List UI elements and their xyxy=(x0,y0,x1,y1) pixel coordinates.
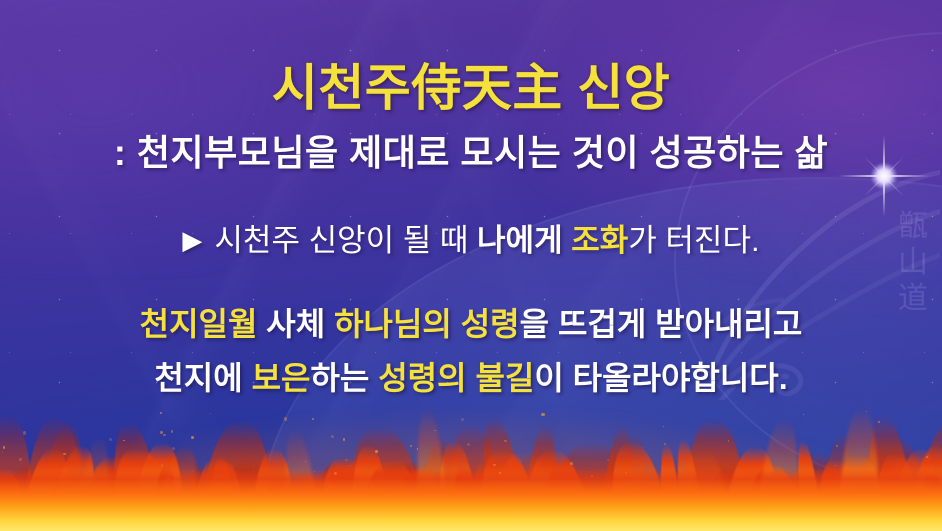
body2-segment-white-2: 하는 xyxy=(310,360,378,396)
body-statement-line-1: 천지일월 사체 하나님의 성령을 뜨겁게 받아내리고 xyxy=(0,299,942,345)
bullet-statement: ▶시천주 신앙이 될 때 나에게 조화가 터진다. xyxy=(0,215,942,260)
body2-segment-white-3: 이 타올라야합니다. xyxy=(534,360,787,396)
bullet-segment-highlight: 조화 xyxy=(571,223,628,258)
bullet-segment-1: 시천주 신앙이 될 때 xyxy=(214,223,477,258)
body2-segment-white-1: 천지에 xyxy=(154,360,251,396)
body1-segment-white-2: 을 뜨겁게 받아내리고 xyxy=(520,306,803,342)
triangle-bullet-icon: ▶ xyxy=(182,225,202,256)
slide-subtitle: : 천지부모님을 제대로 모시는 것이 성공하는 삶 xyxy=(0,124,942,176)
body1-segment-highlight-1: 천지일월 xyxy=(140,306,267,342)
slide-title: 시천주侍天主 신앙 xyxy=(0,48,942,120)
bullet-segment-emphasis-white: 나에게 xyxy=(477,223,571,258)
body2-segment-highlight-2: 성령의 불길 xyxy=(378,360,534,396)
body-statement-line-2: 천지에 보은하는 성령의 불길이 타올라야합니다. xyxy=(0,353,942,399)
body2-segment-highlight-1: 보은 xyxy=(252,360,311,396)
body1-segment-white-1: 사체 xyxy=(266,306,334,342)
body1-segment-highlight-2: 하나님의 성령 xyxy=(334,306,520,342)
presentation-slide: 甑 山 道 시천주侍天主 신앙 : 천지부모님을 제대로 모시는 것이 성공하는… xyxy=(0,0,942,531)
slide-text-content: 시천주侍天主 신앙 : 천지부모님을 제대로 모시는 것이 성공하는 삶 ▶시천… xyxy=(0,0,942,531)
bullet-segment-4: 가 터진다. xyxy=(628,223,759,258)
